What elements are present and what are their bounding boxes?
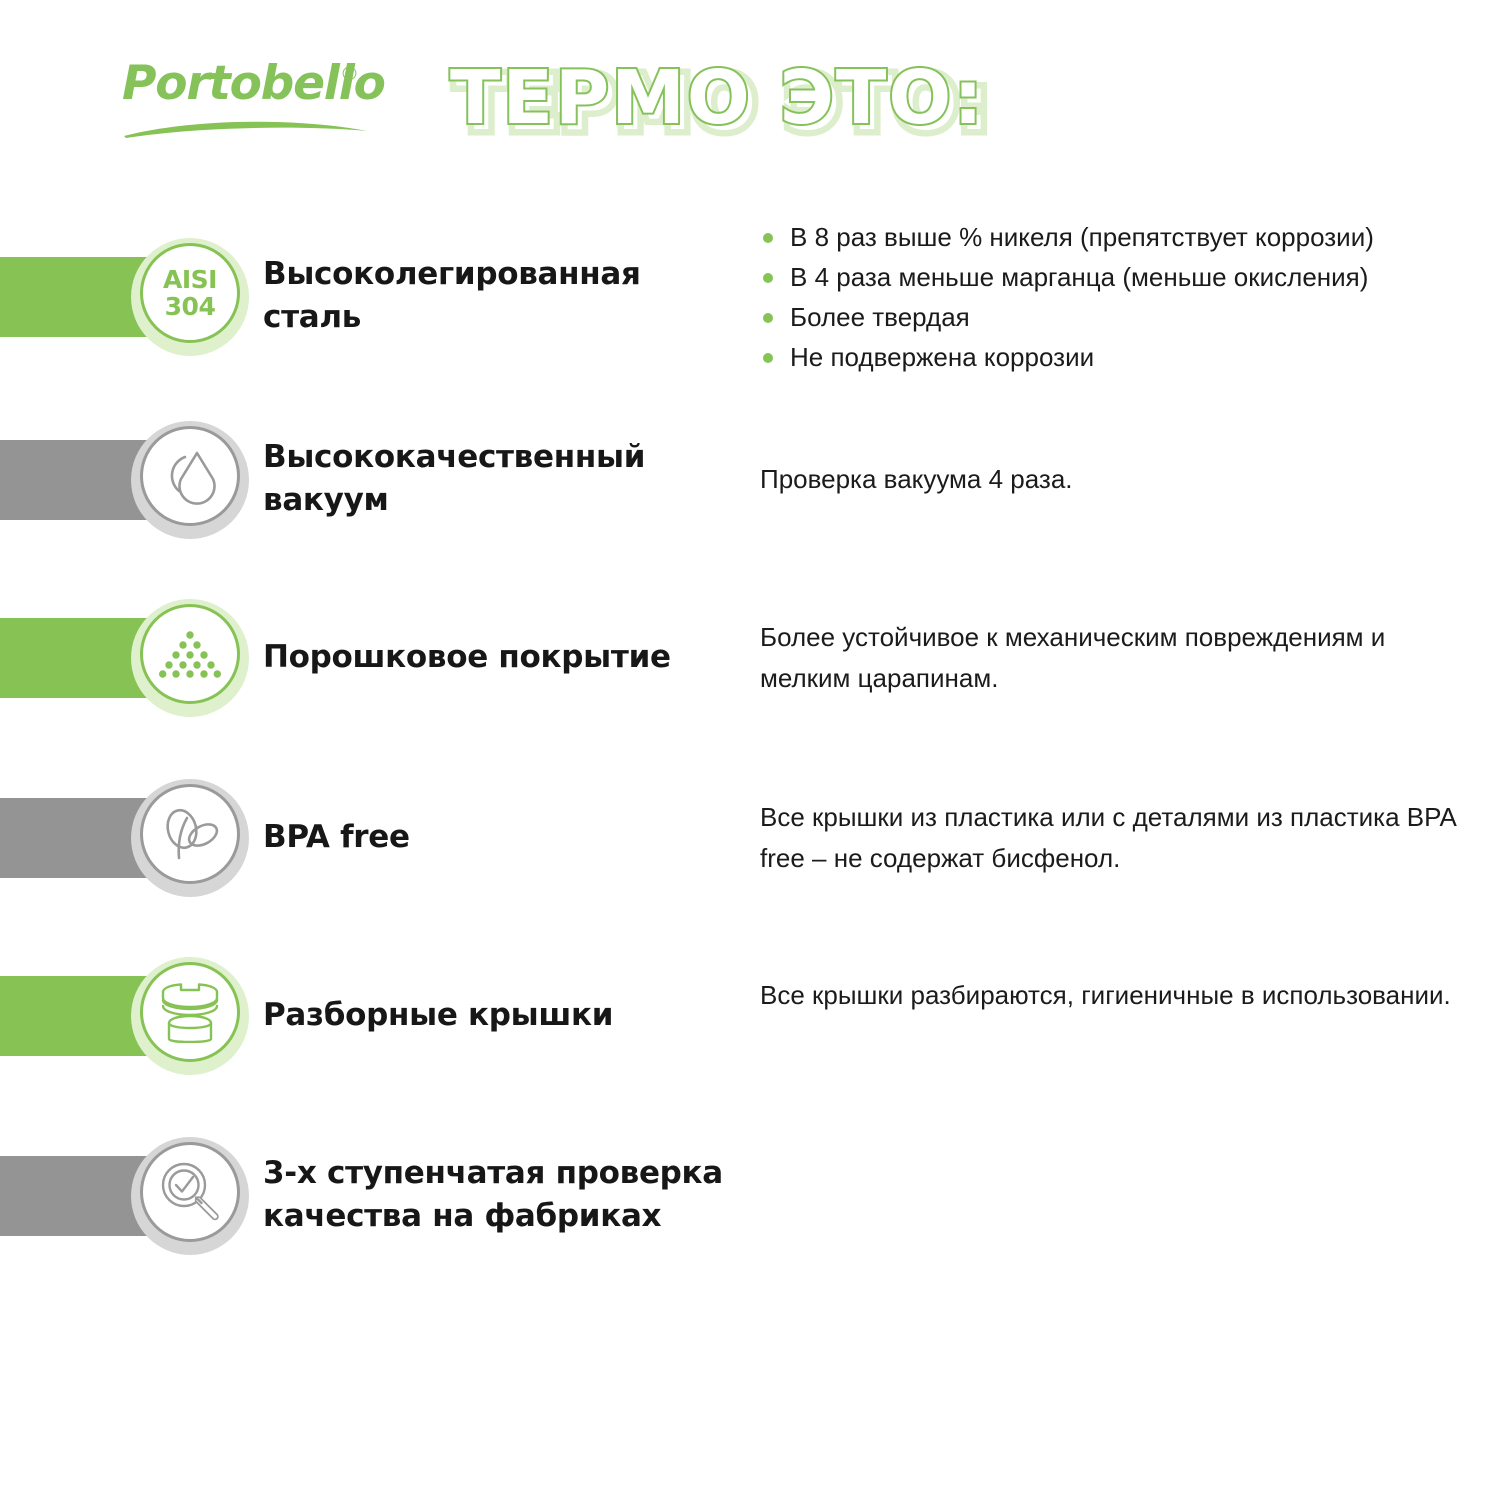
feature-description: Более устойчивое к механическим поврежде… bbox=[760, 617, 1480, 699]
badge-glyph bbox=[140, 962, 240, 1062]
bullet-dot-icon bbox=[763, 273, 773, 283]
feature-heading: Высоколегированная сталь bbox=[263, 253, 733, 339]
feature-heading: Высококачественный вакуум bbox=[263, 436, 733, 522]
badge-glyph bbox=[140, 604, 240, 704]
feature-heading: Разборные крышки bbox=[263, 994, 733, 1037]
bullet-dot-icon bbox=[763, 233, 773, 243]
two-leaves-icon bbox=[131, 779, 249, 897]
badge-glyph bbox=[140, 784, 240, 884]
detachable-lid-glyph bbox=[155, 981, 225, 1043]
powder-dots-glyph bbox=[159, 628, 221, 680]
list-item-label: В 8 раз выше % никеля (препятствует корр… bbox=[790, 222, 1374, 252]
list-item: Более твердая bbox=[760, 297, 1500, 337]
list-item-label: Не подвержена коррозии bbox=[790, 342, 1094, 372]
feature-heading: BPA free bbox=[263, 816, 733, 859]
aisi-line-2: 304 bbox=[163, 293, 217, 320]
feature-list: AISI 304 Высоколегированная сталь В 8 ра… bbox=[0, 0, 1500, 1500]
feature-description: Все крышки из пластика или с деталями из… bbox=[760, 797, 1480, 879]
list-item-label: Более твердая bbox=[790, 302, 970, 332]
feature-description: Все крышки разбираются, гигиеничные в ис… bbox=[760, 975, 1480, 1016]
badge-glyph bbox=[140, 1142, 240, 1242]
list-item-label: В 4 раза меньше марганца (меньше окислен… bbox=[790, 262, 1368, 292]
magnifier-check-icon bbox=[131, 1137, 249, 1255]
feature-bullet-list: В 8 раз выше % никеля (препятствует корр… bbox=[760, 217, 1500, 377]
powder-dots-icon bbox=[131, 599, 249, 717]
magnifier-check-glyph bbox=[158, 1160, 222, 1224]
list-item: В 8 раз выше % никеля (препятствует корр… bbox=[760, 217, 1500, 257]
badge-glyph bbox=[140, 426, 240, 526]
aisi-304-badge-icon: AISI 304 bbox=[131, 238, 249, 356]
water-drop-glyph bbox=[159, 445, 221, 507]
badge-glyph: AISI 304 bbox=[140, 243, 240, 343]
two-leaves-glyph bbox=[158, 806, 222, 862]
feature-heading: 3-х ступенчатая проверка качества на фаб… bbox=[263, 1152, 733, 1238]
bullet-dot-icon bbox=[763, 353, 773, 363]
aisi-label: AISI 304 bbox=[163, 266, 217, 320]
detachable-lid-icon bbox=[131, 957, 249, 1075]
feature-heading: Порошковое покрытие bbox=[263, 636, 733, 679]
water-drop-icon bbox=[131, 421, 249, 539]
feature-description: Проверка вакуума 4 раза. bbox=[760, 459, 1480, 500]
list-item: Не подвержена коррозии bbox=[760, 337, 1500, 377]
list-item: В 4 раза меньше марганца (меньше окислен… bbox=[760, 257, 1500, 297]
bullet-dot-icon bbox=[763, 313, 773, 323]
aisi-line-1: AISI bbox=[163, 266, 217, 293]
